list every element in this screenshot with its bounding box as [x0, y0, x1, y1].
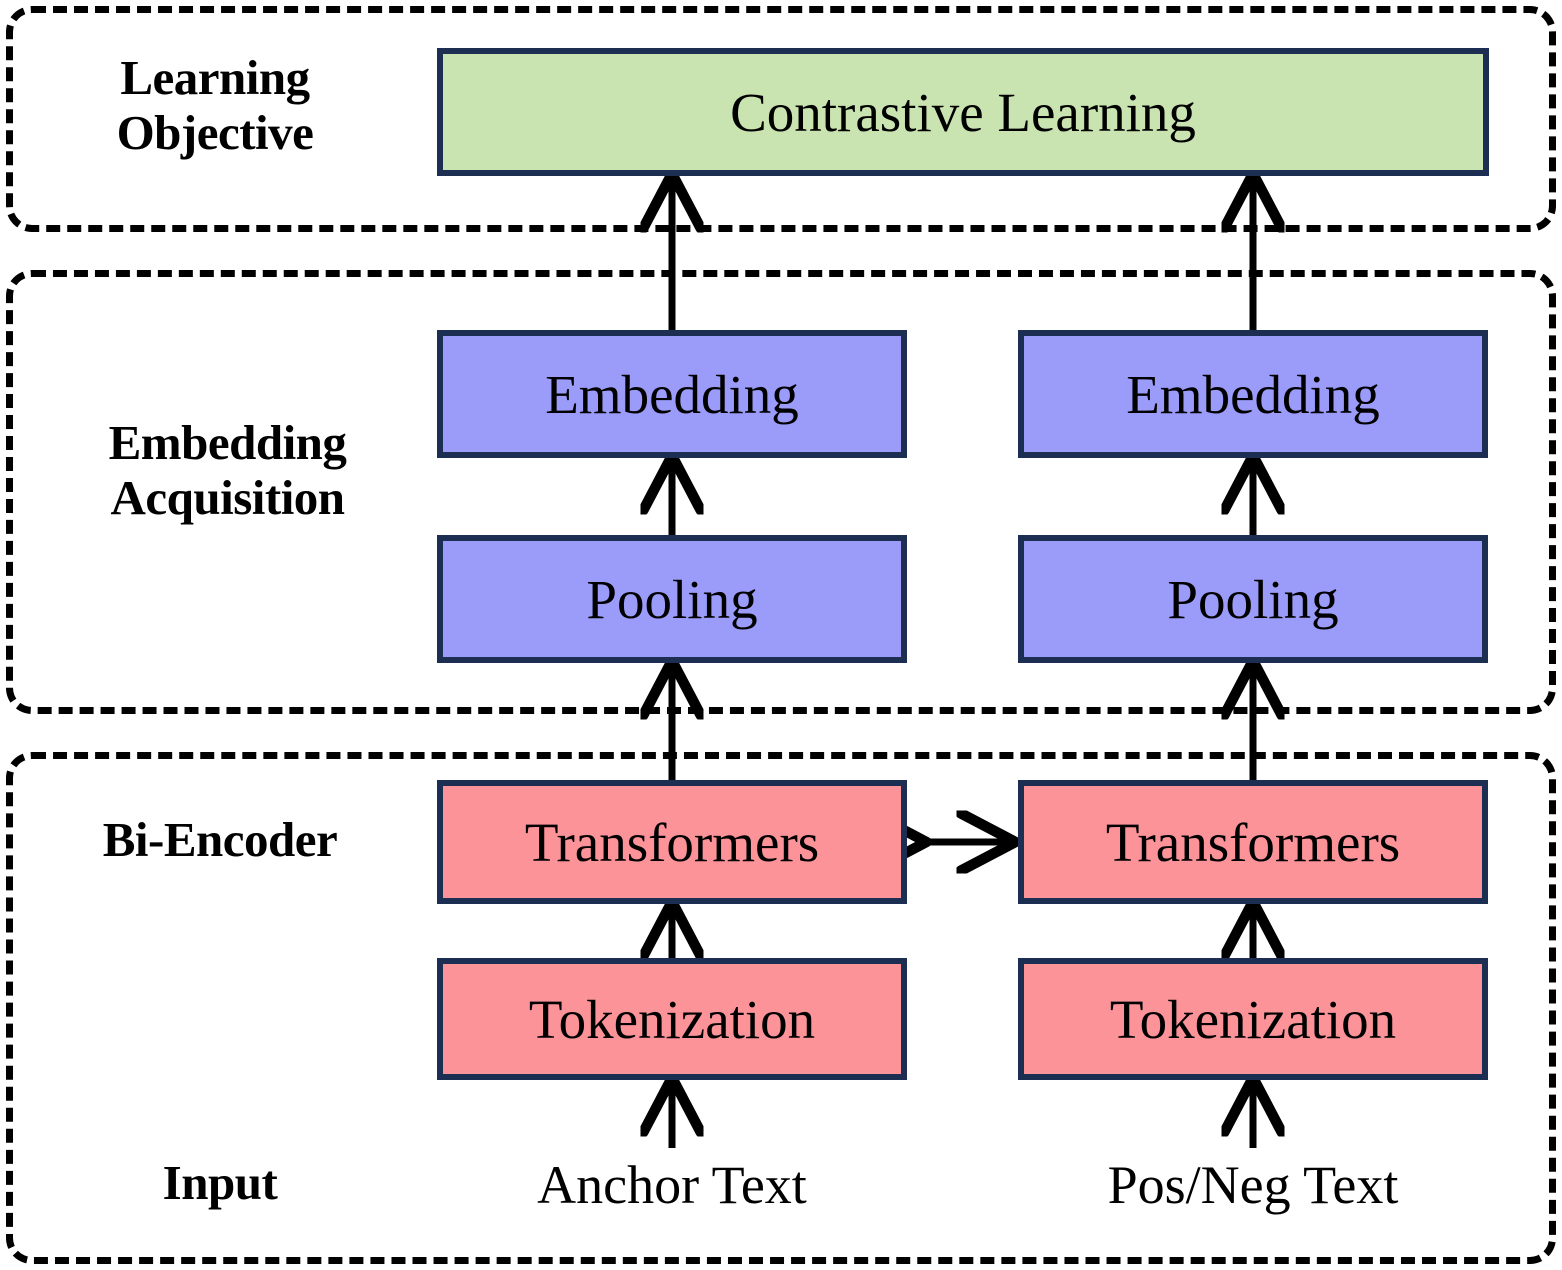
node-embedding-left[interactable]: Embedding — [437, 330, 907, 458]
node-embedding-right[interactable]: Embedding — [1018, 330, 1488, 458]
node-transformers-right[interactable]: Transformers — [1018, 780, 1488, 904]
node-transformers-left[interactable]: Transformers — [437, 780, 907, 904]
stage-label-learning-objective: Learning Objective — [40, 50, 390, 161]
stage-label-bi-encoder: Bi-Encoder — [40, 812, 400, 867]
node-tokenization-right[interactable]: Tokenization — [1018, 958, 1488, 1080]
node-pooling-right[interactable]: Pooling — [1018, 535, 1488, 663]
input-label-pos-neg-text: Pos/Neg Text — [1018, 1158, 1488, 1212]
architecture-diagram: Learning Objective Embedding Acquisition… — [0, 0, 1562, 1270]
node-pooling-left[interactable]: Pooling — [437, 535, 907, 663]
stage-label-embedding-acquisition: Embedding Acquisition — [30, 415, 425, 526]
node-tokenization-left[interactable]: Tokenization — [437, 958, 907, 1080]
node-contrastive-learning[interactable]: Contrastive Learning — [437, 48, 1489, 176]
stage-label-input: Input — [40, 1155, 400, 1210]
input-label-anchor-text: Anchor Text — [437, 1158, 907, 1212]
